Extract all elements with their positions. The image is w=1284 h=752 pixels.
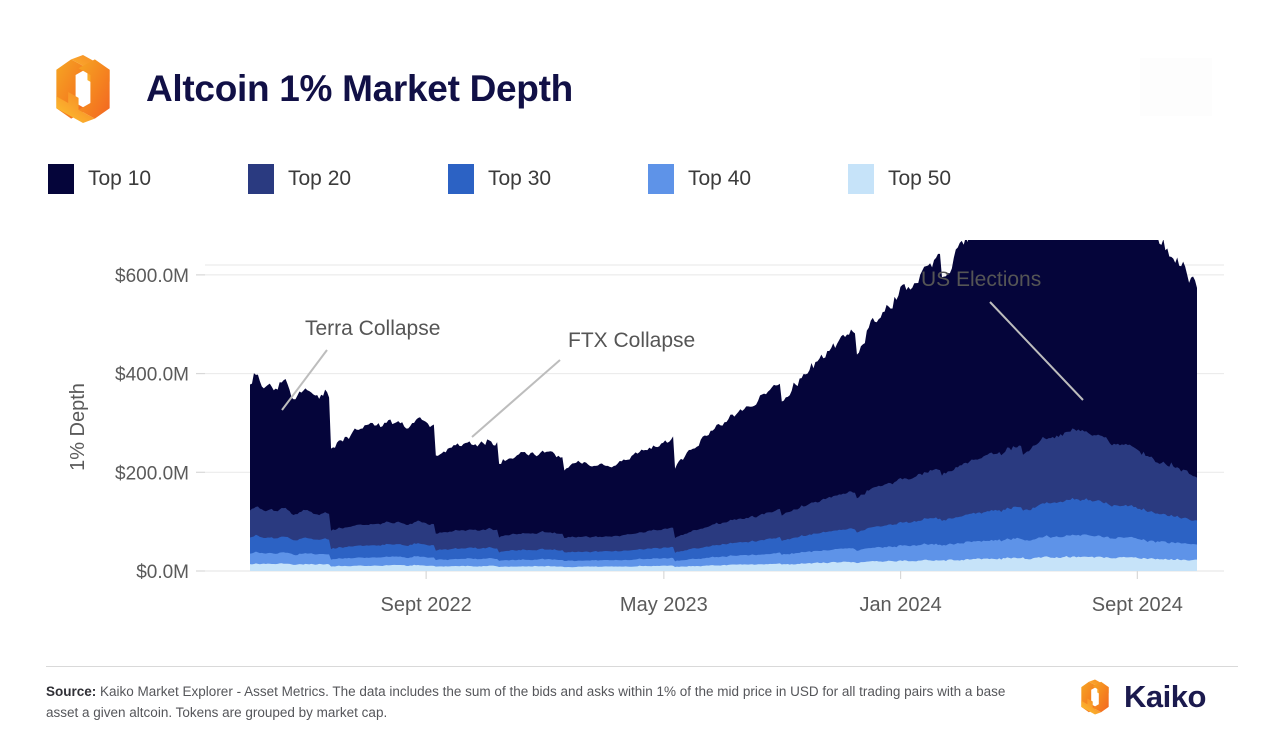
- legend-item-top-30[interactable]: Top 30: [448, 164, 648, 194]
- legend-item-top-20[interactable]: Top 20: [248, 164, 448, 194]
- legend-label: Top 50: [888, 167, 951, 191]
- y-axis-ticks: $0.0M$200.0M$400.0M$600.0M: [115, 266, 205, 583]
- y-axis-title: 1% Depth: [67, 383, 89, 471]
- x-axis-ticks: Sept 2022May 2023Jan 2024Sept 2024: [381, 571, 1183, 616]
- legend-swatch-icon: [248, 164, 274, 194]
- y-tick-label: $0.0M: [136, 562, 189, 583]
- chart-svg: $0.0M$200.0M$400.0M$600.0M Sept 2022May …: [0, 240, 1284, 640]
- watermark-block: [1140, 58, 1212, 116]
- legend-label: Top 10: [88, 167, 151, 191]
- x-tick-label: Sept 2022: [381, 594, 472, 616]
- kaiko-hexagon-logo-icon: [1076, 678, 1114, 716]
- header: Altcoin 1% Market Depth: [46, 52, 573, 126]
- legend-label: Top 40: [688, 167, 751, 191]
- footer-logo: Kaiko: [1076, 678, 1206, 716]
- legend: Top 10 Top 20 Top 30 Top 40 Top 50: [48, 164, 1048, 194]
- chart-annotation-label: FTX Collapse: [568, 329, 695, 352]
- legend-item-top-10[interactable]: Top 10: [48, 164, 248, 194]
- legend-label: Top 20: [288, 167, 351, 191]
- chart: $0.0M$200.0M$400.0M$600.0M Sept 2022May …: [0, 240, 1284, 640]
- footer: Source: Kaiko Market Explorer - Asset Me…: [46, 682, 1006, 724]
- kaiko-hexagon-logo-icon: [46, 52, 120, 126]
- legend-item-top-40[interactable]: Top 40: [648, 164, 848, 194]
- x-tick-label: Jan 2024: [859, 594, 941, 616]
- footer-divider: [46, 666, 1238, 667]
- x-tick-label: Sept 2024: [1092, 594, 1183, 616]
- legend-swatch-icon: [48, 164, 74, 194]
- legend-swatch-icon: [448, 164, 474, 194]
- source-note: Source: Kaiko Market Explorer - Asset Me…: [46, 682, 1006, 724]
- y-tick-label: $200.0M: [115, 463, 189, 484]
- legend-swatch-icon: [648, 164, 674, 194]
- x-tick-label: May 2023: [620, 594, 708, 616]
- chart-annotation-label: Terra Collapse: [305, 317, 440, 340]
- legend-swatch-icon: [848, 164, 874, 194]
- y-tick-label: $600.0M: [115, 266, 189, 287]
- chart-annotation-label: US Elections: [921, 268, 1041, 291]
- area-series-group: [250, 240, 1197, 571]
- y-tick-label: $400.0M: [115, 365, 189, 386]
- source-label: Source:: [46, 684, 96, 699]
- page-title: Altcoin 1% Market Depth: [146, 68, 573, 110]
- source-body: Kaiko Market Explorer - Asset Metrics. T…: [46, 684, 1005, 720]
- footer-wordmark: Kaiko: [1124, 679, 1206, 715]
- legend-label: Top 30: [488, 167, 551, 191]
- legend-item-top-50[interactable]: Top 50: [848, 164, 1048, 194]
